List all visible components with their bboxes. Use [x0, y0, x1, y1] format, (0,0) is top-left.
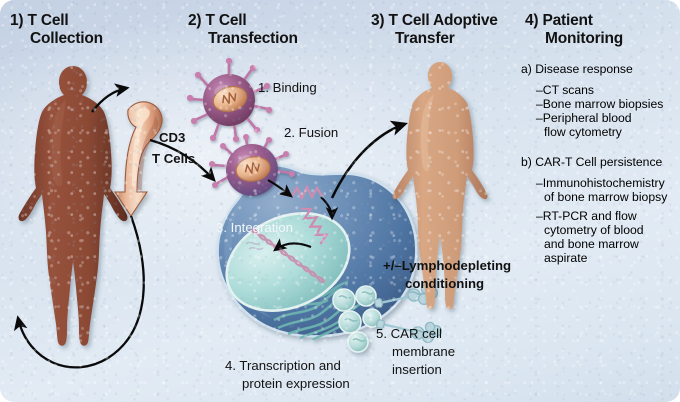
monitoring-section-label: a) Disease response	[521, 62, 680, 76]
stage-3-title-line2: Transfer	[395, 30, 455, 48]
monitoring-section: a) Disease response –CT scans –Bone marr…	[521, 62, 680, 139]
diagram-labels: 1) T Cell Collection 2) T Cell Transfect…	[0, 0, 680, 402]
cart-workflow-figure: 1) T Cell Collection 2) T Cell Transfect…	[0, 0, 680, 402]
monitoring-item: –Peripheral blood	[536, 111, 680, 125]
conditioning-label-line1: +/–Lymphodepleting	[383, 258, 511, 273]
monitoring-item: –Bone marrow biopsies	[536, 97, 680, 111]
stage-1-title-line2: Collection	[30, 30, 103, 48]
step-5-label-line1: 5. CAR cell	[376, 326, 442, 341]
monitoring-section-label: b) CAR-T Cell persistence	[521, 155, 680, 169]
monitoring-item-cont: aspirate	[544, 251, 680, 265]
monitoring-item: –RT-PCR and flow	[536, 209, 680, 223]
monitoring-item: –CT scans	[536, 83, 680, 97]
cd3-label-line1: CD3	[159, 130, 185, 145]
monitoring-section: b) CAR-T Cell persistence –Immunohistoch…	[521, 155, 680, 265]
monitoring-item: –Immunohistochemistry	[536, 176, 680, 190]
stage-2-title-line1: 2) T Cell	[188, 12, 247, 30]
stage-2-title-line2: Transfection	[208, 30, 298, 48]
conditioning-label-line2: conditioning	[405, 276, 484, 291]
step-5-label-line3: insertion	[392, 362, 442, 377]
monitoring-item-cont: and bone marrow	[544, 237, 680, 251]
step-1-binding-label: 1. Binding	[258, 80, 317, 95]
step-3-integration-label: 3. Integration	[216, 220, 293, 235]
stage-4-title-line1: 4) Patient	[525, 12, 593, 30]
cd3-label-line2: T Cells	[152, 151, 195, 166]
step-5-label-line2: membrane	[392, 344, 455, 359]
monitoring-list: a) Disease response –CT scans –Bone marr…	[521, 62, 680, 265]
monitoring-item-cont: of bone marrow biopsy	[544, 190, 680, 204]
stage-3-title-line1: 3) T Cell Adoptive	[371, 12, 498, 30]
monitoring-item-cont: flow cytometry	[544, 125, 680, 139]
stage-1-title-line1: 1) T Cell	[10, 12, 69, 30]
step-2-fusion-label: 2. Fusion	[284, 125, 338, 140]
monitoring-item-cont: cytometry of blood	[544, 223, 680, 237]
stage-4-title-line2: Monitoring	[545, 30, 623, 48]
step-4-label-line1: 4. Transcription and	[225, 358, 341, 373]
step-4-label-line2: protein expression	[242, 376, 350, 391]
